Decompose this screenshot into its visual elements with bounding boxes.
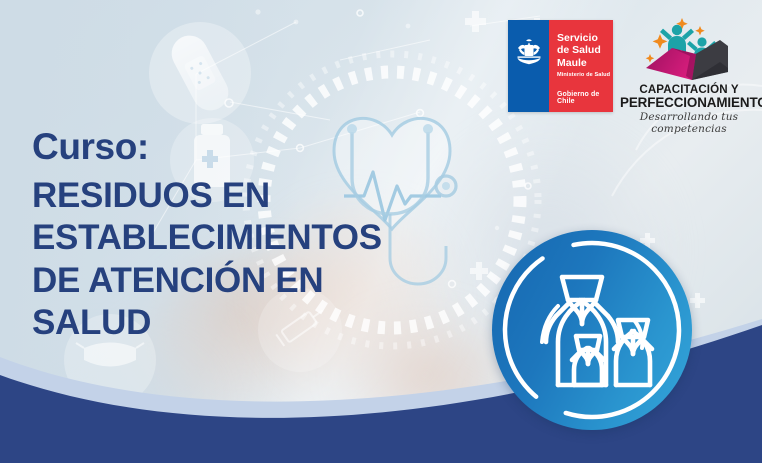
book-and-figures-icon xyxy=(620,12,758,86)
page-title: RESIDUOS EN ESTABLECIMIENTOS DE ATENCIÓN… xyxy=(32,175,462,344)
chile-coat-of-arms-icon xyxy=(514,36,544,70)
title-block: Curso: RESIDUOS EN ESTABLECIMIENTOS DE A… xyxy=(32,128,462,344)
logo-blue-panel xyxy=(508,20,549,112)
title-line-1: RESIDUOS EN xyxy=(32,175,462,217)
logo-line-1: Servicio xyxy=(557,32,610,44)
logo-red-panel: Servicio de Salud Maule Ministerio de Sa… xyxy=(549,20,613,112)
title-line-2: ESTABLECIMIENTOS xyxy=(32,217,462,259)
cap-logo-text: CAPACITACIÓN Y PERFECCIONAMIENTO Desarro… xyxy=(620,84,758,135)
waste-bags-badge xyxy=(492,230,692,430)
course-prefix: Curso: xyxy=(32,128,462,165)
capacitacion-y-perfeccionamiento-logo: CAPACITACIÓN Y PERFECCIONAMIENTO Desarro… xyxy=(620,12,758,120)
bandage-icon xyxy=(149,22,251,124)
cap-line-2: PERFECCIONAMIENTO xyxy=(620,96,758,110)
logo-footer: Gobierno de Chile xyxy=(557,91,613,105)
title-line-4: SALUD xyxy=(32,302,462,344)
logo-title-text: Servicio de Salud Maule Ministerio de Sa… xyxy=(557,32,610,79)
cap-tagline: Desarrollando tus competencias xyxy=(620,111,758,135)
three-waste-bags-icon xyxy=(492,230,692,430)
logo-line-3: Maule xyxy=(557,57,610,69)
title-line-3: DE ATENCIÓN EN xyxy=(32,260,462,302)
logo-ministry: Ministerio de Salud xyxy=(557,72,610,79)
servicio-de-salud-maule-logo: Servicio de Salud Maule Ministerio de Sa… xyxy=(508,20,613,112)
logo-line-2: de Salud xyxy=(557,44,610,56)
course-banner: Curso: RESIDUOS EN ESTABLECIMIENTOS DE A… xyxy=(0,0,762,463)
